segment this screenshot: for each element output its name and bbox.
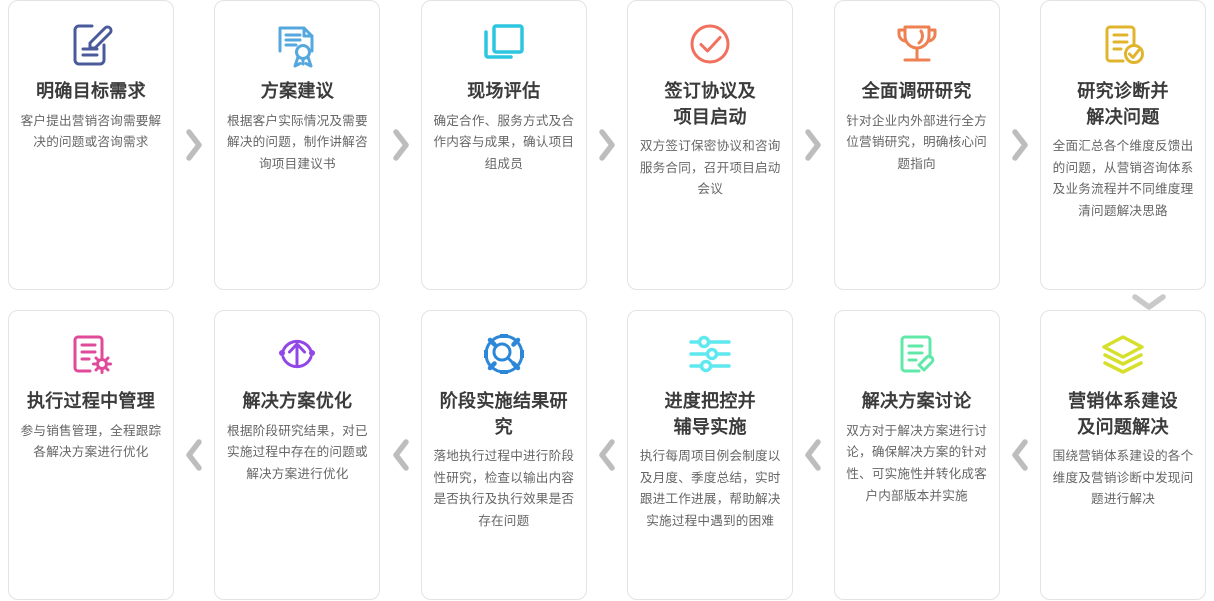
card-title: 营销体系建设 及问题解决 xyxy=(1068,389,1178,440)
card-description: 客户提出营销咨询需要解决的问题或咨询需求 xyxy=(18,111,164,154)
card-description: 落地执行过程中进行阶段性研究，检查以输出内容是否执行及执行效果是否存在问题 xyxy=(431,446,577,533)
flow-card-6[interactable]: 研究诊断并 解决问题 全面汇总各个维度反馈出的问题，从营销咨询体系及业务流程并不… xyxy=(1040,0,1206,290)
document-gear-icon xyxy=(66,323,116,385)
card-title: 解决方案讨论 xyxy=(862,389,972,415)
card-description: 确定合作、服务方式及合作内容与成果，确认项目组成员 xyxy=(431,111,577,176)
card-title: 方案建议 xyxy=(261,79,334,105)
card-description: 围绕营销体系建设的各个维度及营销诊断中发现问题进行解决 xyxy=(1050,446,1196,511)
circular-arrow-up-icon xyxy=(272,323,322,385)
card-description: 双方对于解决方案进行讨论，确保解决方案的针对性、可实施性并转化成客户内部版本并实… xyxy=(844,421,990,508)
flow-card-12[interactable]: 营销体系建设 及问题解决 围绕营销体系建设的各个维度及营销诊断中发现问题进行解决 xyxy=(1040,310,1206,600)
chevron-left-icon xyxy=(587,310,627,600)
chevron-left-icon xyxy=(793,310,833,600)
card-description: 参与销售管理，全程跟踪各解决方案进行优化 xyxy=(18,421,164,464)
bottom-row: 执行过程中管理 参与销售管理，全程跟踪各解决方案进行优化 解决方案优化 根据阶段… xyxy=(0,310,1214,600)
card-description: 针对企业内外部进行全方位营销研究，明确核心问题指向 xyxy=(844,111,990,176)
card-title: 签订协议及 项目启动 xyxy=(664,79,756,130)
flow-card-8[interactable]: 解决方案优化 根据阶段研究结果，对已实施过程中存在的问题或解决方案进行优化 xyxy=(214,310,380,600)
flow-card-2[interactable]: 方案建议 根据客户实际情况及需要解决的问题，制作讲解咨询项目建议书 xyxy=(214,0,380,290)
flow-card-3[interactable]: 现场评估 确定合作、服务方式及合作内容与成果，确认项目组成员 xyxy=(421,0,587,290)
chevron-left-icon xyxy=(174,310,214,600)
chevron-left-icon xyxy=(380,310,420,600)
trophy-icon xyxy=(892,13,942,75)
certificate-seal-icon xyxy=(272,13,322,75)
card-description: 全面汇总各个维度反馈出的问题，从营销咨询体系及业务流程并不同维度理清问题解决思路 xyxy=(1050,136,1196,223)
document-pen-icon xyxy=(892,323,942,385)
document-check-icon xyxy=(1098,13,1148,75)
card-title: 阶段实施结果研究 xyxy=(431,389,577,440)
flow-card-9[interactable]: 阶段实施结果研究 落地执行过程中进行阶段性研究，检查以输出内容是否执行及执行效果… xyxy=(421,310,587,600)
chevron-right-icon xyxy=(380,0,420,290)
card-title: 解决方案优化 xyxy=(243,389,353,415)
gear-magnifier-icon xyxy=(479,323,529,385)
card-description: 根据客户实际情况及需要解决的问题，制作讲解咨询项目建议书 xyxy=(224,111,370,176)
chevron-right-icon xyxy=(1000,0,1040,290)
flow-card-10[interactable]: 进度把控并 辅导实施 执行每周项目例会制度以及月度、季度总结，实时跟进工作进展，… xyxy=(627,310,793,600)
card-description: 根据阶段研究结果，对已实施过程中存在的问题或解决方案进行优化 xyxy=(224,421,370,486)
layers-stack-icon xyxy=(1098,323,1148,385)
chevron-down-icon xyxy=(1116,292,1182,312)
card-title: 现场评估 xyxy=(467,79,540,105)
flow-card-7[interactable]: 执行过程中管理 参与销售管理，全程跟踪各解决方案进行优化 xyxy=(8,310,174,600)
card-title: 进度把控并 辅导实施 xyxy=(664,389,756,440)
flow-card-4[interactable]: 签订协议及 项目启动 双方签订保密协议和咨询服务合同，召开项目启动会议 xyxy=(627,0,793,290)
copy-squares-icon xyxy=(479,13,529,75)
top-row: 明确目标需求 客户提出营销咨询需要解决的问题或咨询需求 方案建议 根据客户实际情… xyxy=(0,0,1214,290)
card-description: 双方签订保密协议和咨询服务合同，召开项目启动会议 xyxy=(637,136,783,201)
flow-card-1[interactable]: 明确目标需求 客户提出营销咨询需要解决的问题或咨询需求 xyxy=(8,0,174,290)
card-description: 执行每周项目例会制度以及月度、季度总结，实时跟进工作进展，帮助解决实施过程中遇到… xyxy=(637,446,783,533)
card-title: 研究诊断并 解决问题 xyxy=(1077,79,1169,130)
process-flow-diagram: 明确目标需求 客户提出营销咨询需要解决的问题或咨询需求 方案建议 根据客户实际情… xyxy=(0,0,1214,601)
chevron-right-icon xyxy=(174,0,214,290)
document-pencil-icon xyxy=(66,13,116,75)
card-title: 执行过程中管理 xyxy=(27,389,155,415)
card-title: 全面调研研究 xyxy=(862,79,972,105)
flow-card-5[interactable]: 全面调研研究 针对企业内外部进行全方位营销研究，明确核心问题指向 xyxy=(834,0,1000,290)
sliders-icon xyxy=(685,323,735,385)
card-title: 明确目标需求 xyxy=(36,79,146,105)
check-circle-icon xyxy=(685,13,735,75)
chevron-right-icon xyxy=(587,0,627,290)
flow-card-11[interactable]: 解决方案讨论 双方对于解决方案进行讨论，确保解决方案的针对性、可实施性并转化成客… xyxy=(834,310,1000,600)
chevron-left-icon xyxy=(1000,310,1040,600)
chevron-right-icon xyxy=(793,0,833,290)
